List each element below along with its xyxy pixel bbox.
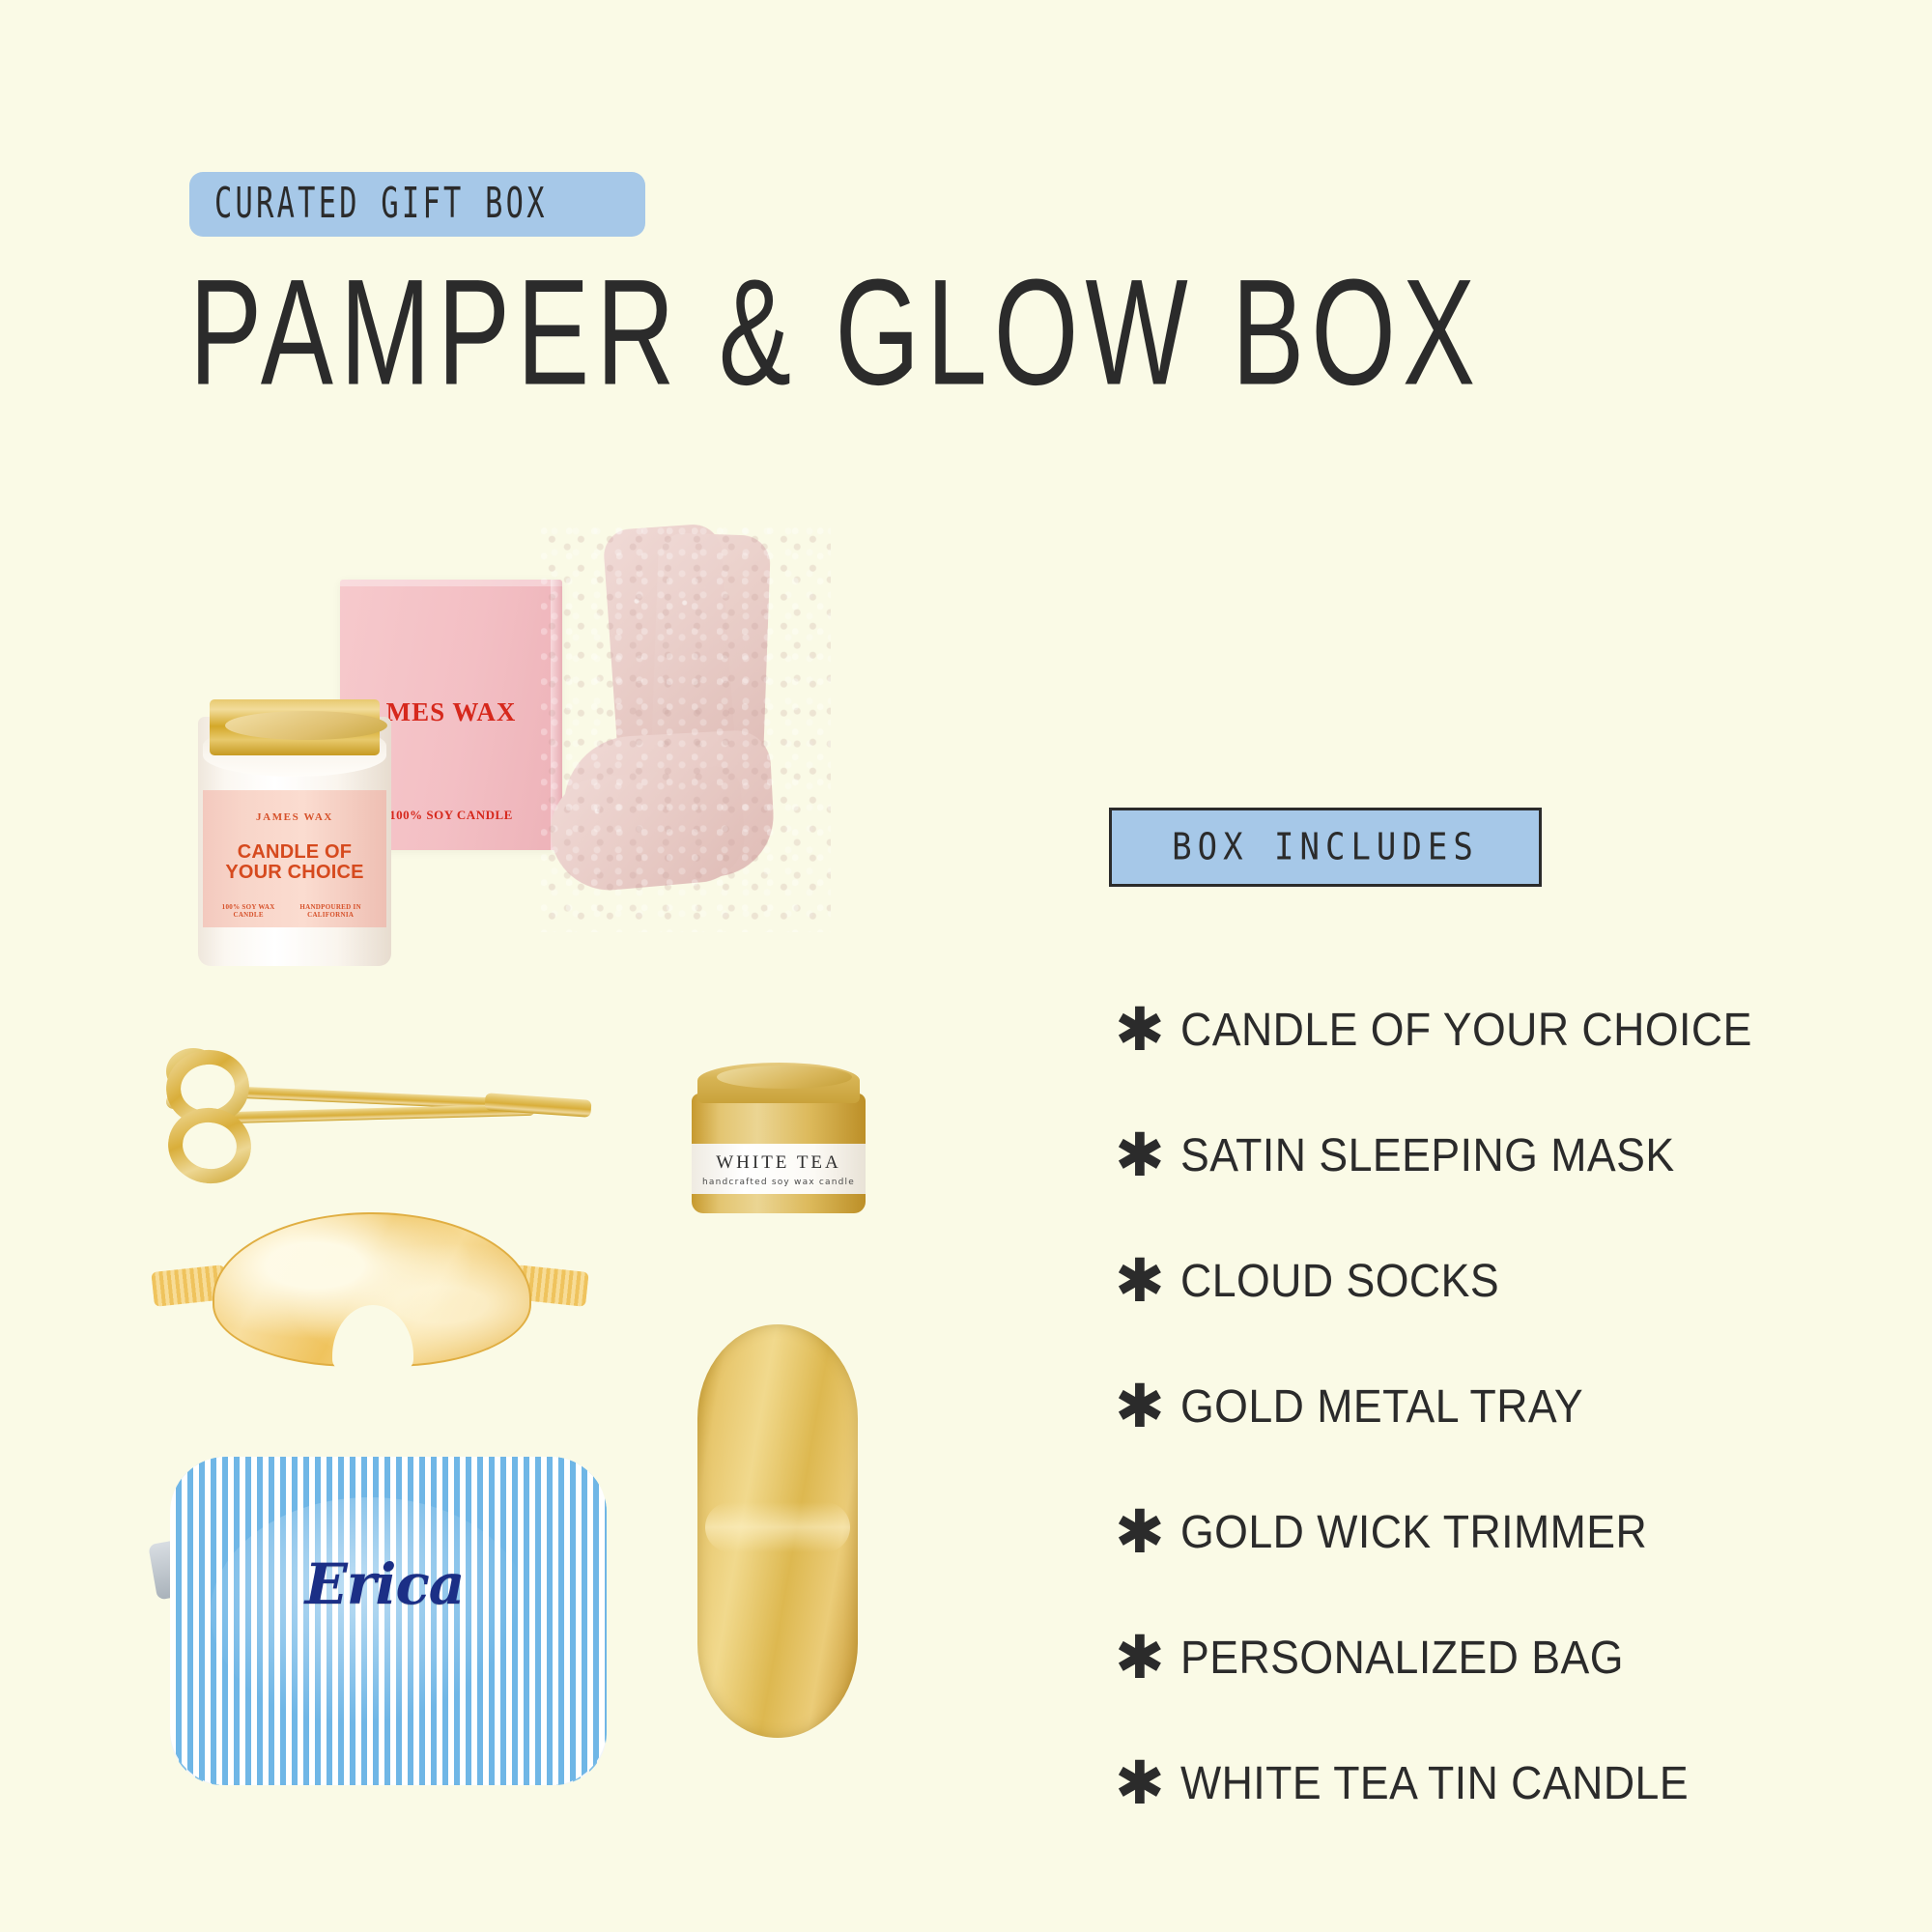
product-image-white-tea-tin-candle: WHITE TEA handcrafted soy wax candle [692,1063,866,1217]
tin-label-name: WHITE TEA [692,1152,866,1174]
product-image-cloud-socks [541,526,831,932]
box-includes-header: BOX INCLUDES [1109,808,1542,887]
asterisk-icon: ✱ [1109,1502,1180,1562]
list-item-label: GOLD WICK TRIMMER [1180,1506,1647,1559]
asterisk-icon: ✱ [1109,1251,1180,1311]
list-item-label: CLOUD SOCKS [1180,1255,1499,1308]
bag-piping-trim [170,1457,607,1785]
list-item: ✱ PERSONALIZED BAG [1109,1615,1843,1700]
tin-lid [697,1063,860,1103]
tin-label-tagline: handcrafted soy wax candle [692,1178,866,1187]
asterisk-icon: ✱ [1109,1377,1180,1436]
sock-foot-lower [546,765,749,895]
tin-lid-top [717,1065,852,1089]
list-item: ✱ GOLD WICK TRIMMER [1109,1490,1843,1575]
list-item-label: GOLD METAL TRAY [1180,1380,1583,1434]
candle-label-foot-left: 100% SOY WAX CANDLE [213,903,284,919]
list-item: ✱ WHITE TEA TIN CANDLE [1109,1741,1843,1826]
list-item: ✱ CANDLE OF YOUR CHOICE [1109,987,1843,1072]
product-image-gold-wick-trimmer [166,1048,630,1183]
candle-jar-label: JAMES WAX CANDLE OF YOUR CHOICE 100% SOY… [203,790,386,927]
product-image-candle-jar: JAMES WAX CANDLE OF YOUR CHOICE 100% SOY… [198,676,391,966]
candle-label-foot-right: HANDPOURED IN CALIFORNIA [284,903,377,919]
list-item: ✱ SATIN SLEEPING MASK [1109,1113,1843,1198]
asterisk-icon: ✱ [1109,1753,1180,1813]
tin-label: WHITE TEA handcrafted soy wax candle [692,1144,866,1194]
box-includes-list: ✱ CANDLE OF YOUR CHOICE ✱ SATIN SLEEPING… [1109,987,1843,1826]
list-item-label: CANDLE OF YOUR CHOICE [1180,1004,1752,1057]
candle-label-main-line-2: YOUR CHOICE [203,863,386,883]
box-includes-header-label: BOX INCLUDES [1172,826,1479,869]
list-item-label: WHITE TEA TIN CANDLE [1180,1757,1689,1810]
asterisk-icon: ✱ [1109,1628,1180,1688]
product-collage: MES WAX 100% SOY CANDLE JAMES WAX CANDLE… [0,0,1024,1932]
product-image-personalized-bag: Erica [153,1449,616,1797]
bag-embroidered-name: Erica [153,1551,616,1617]
product-image-satin-sleeping-mask [153,1212,587,1377]
candle-jar-lid-top [225,711,387,740]
candle-label-main-line-1: CANDLE OF [203,842,386,863]
asterisk-icon: ✱ [1109,1125,1180,1185]
product-image-gold-metal-tray [676,1299,879,1763]
list-item: ✱ GOLD METAL TRAY [1109,1364,1843,1449]
tray-inner-well [697,1324,858,1738]
asterisk-icon: ✱ [1109,1000,1180,1060]
pink-box-top-edge [340,580,562,586]
list-item: ✱ CLOUD SOCKS [1109,1238,1843,1323]
list-item-label: SATIN SLEEPING MASK [1180,1129,1675,1182]
list-item-label: PERSONALIZED BAG [1180,1632,1624,1685]
box-includes-panel: BOX INCLUDES ✱ CANDLE OF YOUR CHOICE ✱ S… [1109,808,1843,1866]
candle-label-brand: JAMES WAX [203,811,386,823]
candle-jar-gold-lid [210,699,380,755]
